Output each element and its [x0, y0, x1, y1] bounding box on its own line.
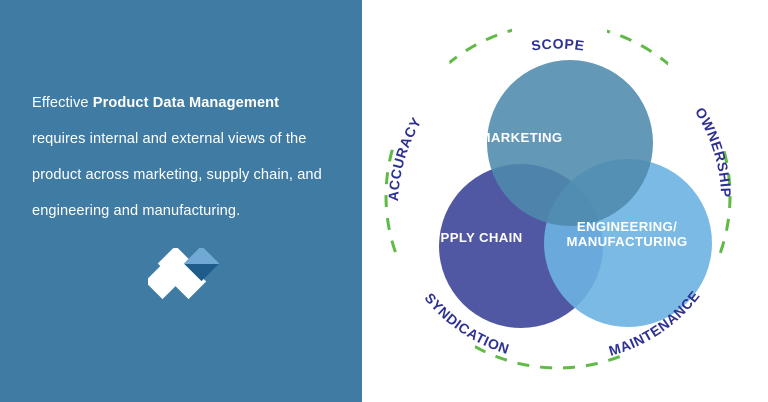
diamond-logo-icon [148, 248, 220, 316]
intro-paragraph: Effective Product Data Management requir… [32, 85, 332, 229]
infographic-canvas: Effective Product Data Management requir… [0, 0, 768, 402]
ring-label-scope: SCOPE [530, 36, 585, 54]
intro-rest: requires internal and external views of … [32, 131, 322, 219]
intro-bold-term: Product Data Management [93, 95, 279, 111]
right-panel: SCOPE OWNERSHIP ACCURACY SYNDICATION MAI… [362, 0, 768, 402]
diamond-logo [148, 248, 220, 316]
venn-diagram: SCOPE OWNERSHIP ACCURACY SYNDICATION MAI… [362, 0, 768, 402]
left-panel: Effective Product Data Management requir… [0, 0, 362, 402]
intro-prefix: Effective [32, 95, 93, 111]
venn-circle-marketing [487, 60, 653, 226]
venn-svg: SCOPE OWNERSHIP ACCURACY SYNDICATION MAI… [362, 0, 768, 402]
